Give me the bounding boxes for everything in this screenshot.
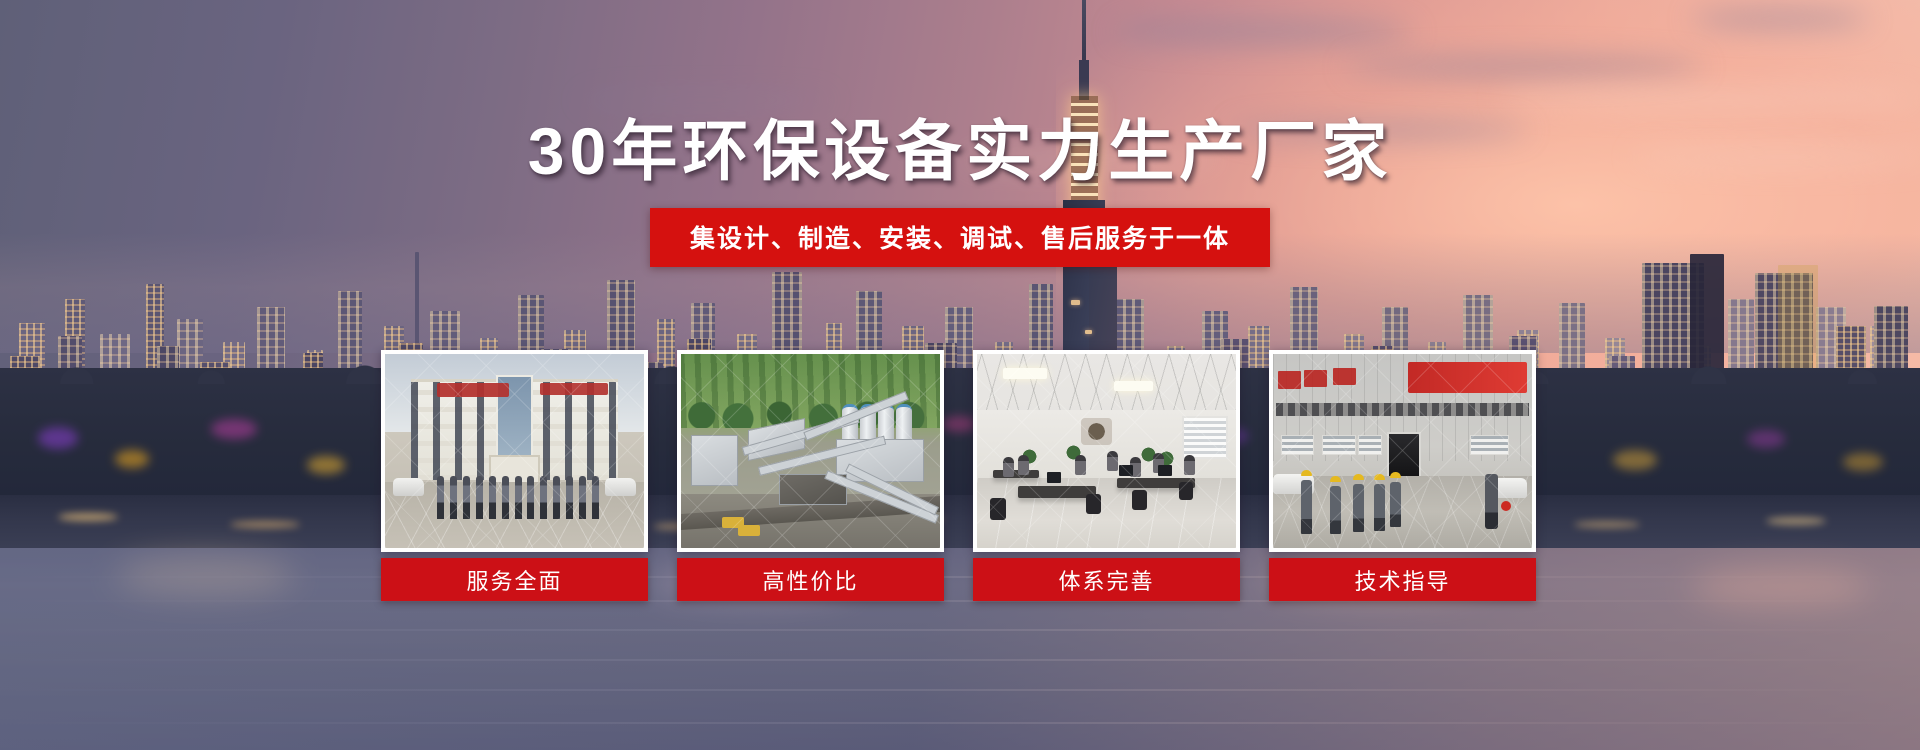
card-3-frame (973, 350, 1240, 552)
card-4-frame (1269, 350, 1536, 552)
feature-card-1[interactable]: 服务全面 (381, 350, 648, 601)
phone-sign (540, 383, 607, 395)
feature-card-4[interactable]: 技术指导 (1269, 350, 1536, 601)
card-4-caption: 技术指导 (1269, 558, 1536, 601)
office-interior-image (977, 354, 1236, 548)
page-title: 30年环保设备实力生产厂家 (528, 118, 1392, 184)
card-3-caption: 体系完善 (973, 558, 1240, 601)
card-2-frame (677, 350, 944, 552)
company-sign (437, 383, 510, 397)
card-1-caption: 服务全面 (381, 558, 648, 601)
factory-workers-image (1273, 354, 1532, 548)
card-1-frame (381, 350, 648, 552)
cement-plant-aerial-image (681, 354, 940, 548)
feature-card-2[interactable]: 高性价比 (677, 350, 944, 601)
factory-banner-sign (1408, 362, 1527, 393)
hero-banner: 30年环保设备实力生产厂家 集设计、制造、安装、调试、售后服务于一体 (0, 0, 1920, 750)
feature-card-row: 服务全面 (381, 350, 1536, 601)
hero-text-block: 30年环保设备实力生产厂家 集设计、制造、安装、调试、售后服务于一体 (0, 0, 1920, 267)
subtitle-badge: 集设计、制造、安装、调试、售后服务于一体 (650, 208, 1270, 267)
headquarters-building-image (385, 354, 644, 548)
feature-card-3[interactable]: 体系完善 (973, 350, 1240, 601)
card-2-caption: 高性价比 (677, 558, 944, 601)
